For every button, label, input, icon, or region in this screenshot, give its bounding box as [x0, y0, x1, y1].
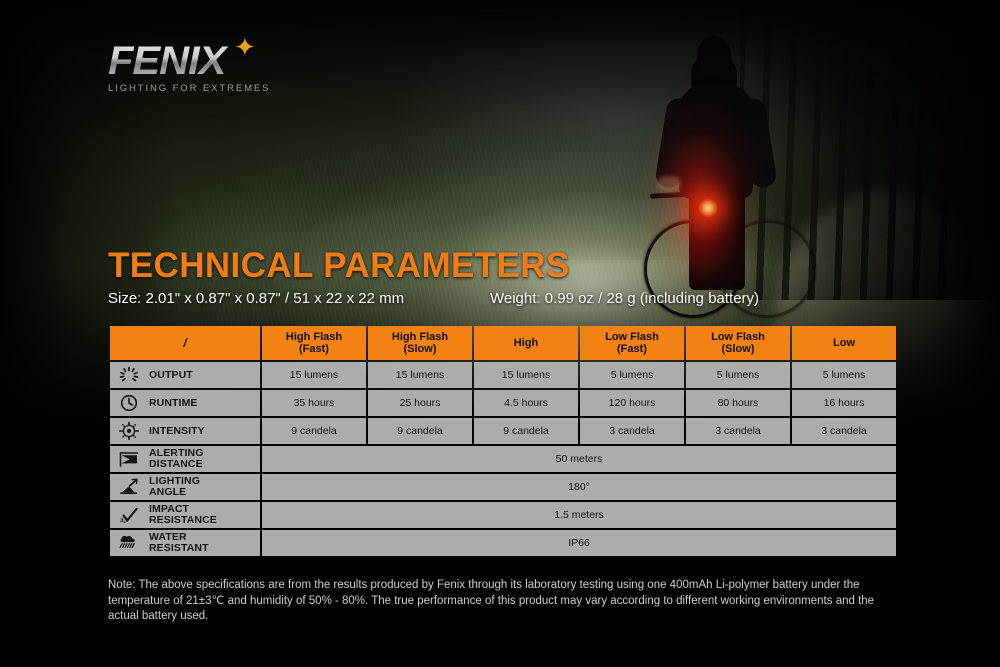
row-label-cell: ALERTINGDISTANCE	[110, 446, 260, 472]
row-label-line1: OUTPUT	[149, 370, 193, 381]
size-spec: Size: 2.01" x 0.87" x 0.87" / 51 x 22 x …	[108, 290, 404, 307]
row-label-text: IMPACTRESISTANCE	[149, 504, 217, 526]
burst-output-icon	[118, 365, 140, 385]
row-value-cell: 5 lumens	[686, 362, 790, 388]
row-value-cell: 9 candela	[262, 418, 366, 444]
product-spec-page: ✦ FENIX LIGHTING FOR EXTREMES TECHNICAL …	[0, 0, 1000, 667]
beam-distance-icon	[118, 449, 140, 469]
row-value-cell: 5 lumens	[792, 362, 896, 388]
table-row: OUTPUT15 lumens15 lumens15 lumens5 lumen…	[110, 362, 896, 388]
table-row: INTENSITY9 candela9 candela9 candela3 ca…	[110, 418, 896, 444]
table-body: OUTPUT15 lumens15 lumens15 lumens5 lumen…	[110, 362, 896, 556]
row-value-cell: 15 lumens	[474, 362, 578, 388]
row-value-cell: 9 candela	[368, 418, 472, 444]
page-content: ✦ FENIX LIGHTING FOR EXTREMES TECHNICAL …	[0, 0, 1000, 667]
column-header-line1: High Flash	[262, 331, 366, 343]
page-title: TECHNICAL PARAMETERS	[108, 246, 570, 286]
column-header-low-flash-fast: Low Flash (Fast)	[580, 326, 684, 360]
table-row: LIGHTINGANGLE180°	[110, 474, 896, 500]
row-label-wrap: IMPACTRESISTANCE	[118, 504, 260, 526]
weight-spec: Weight: 0.99 oz / 28 g (including batter…	[490, 290, 759, 307]
table-row: RUNTIME35 hours25 hours4.5 hours120 hour…	[110, 390, 896, 416]
row-value-cell: 80 hours	[686, 390, 790, 416]
row-value-cell: 9 candela	[474, 418, 578, 444]
row-value-cell: 3 candela	[580, 418, 684, 444]
row-label-line2: ANGLE	[149, 487, 200, 498]
row-label-wrap: OUTPUT	[118, 365, 260, 385]
row-label-wrap: WATERRESISTANT	[118, 532, 260, 554]
clock-runtime-icon	[118, 393, 140, 413]
fenix-logo: ✦ FENIX LIGHTING FOR EXTREMES	[108, 40, 288, 96]
column-header-high: High	[474, 326, 578, 360]
column-header-line2: (Slow)	[368, 343, 472, 355]
row-value-cell: 120 hours	[580, 390, 684, 416]
column-header-line1: High Flash	[368, 331, 472, 343]
table-row: IMPACTRESISTANCE1.5 meters	[110, 502, 896, 528]
row-label-cell: LIGHTINGANGLE	[110, 474, 260, 500]
row-label-text: LIGHTINGANGLE	[149, 476, 200, 498]
column-header-line1: High	[474, 337, 578, 349]
row-label-cell: WATERRESISTANT	[110, 530, 260, 556]
water-resistant-icon	[118, 533, 140, 553]
row-value-cell: 15 lumens	[262, 362, 366, 388]
row-value-cell: IP66	[262, 530, 896, 556]
column-header-high-flash-slow: High Flash (Slow)	[368, 326, 472, 360]
row-value-cell: 25 hours	[368, 390, 472, 416]
row-value-cell: 3 candela	[686, 418, 790, 444]
lighting-angle-icon	[118, 477, 140, 497]
row-value-cell: 15 lumens	[368, 362, 472, 388]
row-label-cell: OUTPUT	[110, 362, 260, 388]
row-label-cell: INTENSITY	[110, 418, 260, 444]
crosshair-intensity-icon	[118, 421, 140, 441]
row-value-cell: 3 candela	[792, 418, 896, 444]
row-label-wrap: ALERTINGDISTANCE	[118, 448, 260, 470]
column-header-line1: Low Flash	[580, 331, 684, 343]
row-label-wrap: LIGHTINGANGLE	[118, 476, 260, 498]
column-header-line2: (Fast)	[580, 343, 684, 355]
technical-parameters-table: / High Flash (Fast) High Flash (Slow) Hi…	[108, 324, 898, 558]
footnote: Note: The above specifications are from …	[108, 578, 890, 625]
column-header-label: /	[110, 326, 260, 360]
row-label-line1: RUNTIME	[149, 398, 198, 409]
row-label-text: OUTPUT	[149, 370, 193, 381]
row-label-cell: RUNTIME	[110, 390, 260, 416]
table-row: WATERRESISTANTIP66	[110, 530, 896, 556]
row-value-cell: 50 meters	[262, 446, 896, 472]
brand-name: FENIX	[108, 40, 295, 82]
row-label-wrap: INTENSITY	[118, 421, 260, 441]
row-label-line2: RESISTANT	[149, 543, 209, 554]
row-label-text: RUNTIME	[149, 398, 198, 409]
column-header-line1: Low Flash	[686, 331, 790, 343]
row-label-line1: INTENSITY	[149, 426, 205, 437]
brand-tagline: LIGHTING FOR EXTREMES	[108, 83, 288, 94]
row-label-text: WATERRESISTANT	[149, 532, 209, 554]
column-header-line1: Low	[792, 337, 896, 349]
row-label-text: ALERTINGDISTANCE	[149, 448, 203, 470]
impact-resistance-icon	[118, 505, 140, 525]
column-header-low: Low	[792, 326, 896, 360]
row-value-cell: 1.5 meters	[262, 502, 896, 528]
row-label-text: INTENSITY	[149, 426, 205, 437]
table-header-row: / High Flash (Fast) High Flash (Slow) Hi…	[110, 326, 896, 360]
row-label-wrap: RUNTIME	[118, 393, 260, 413]
column-header-low-flash-slow: Low Flash (Slow)	[686, 326, 790, 360]
row-label-cell: IMPACTRESISTANCE	[110, 502, 260, 528]
table-header: / High Flash (Fast) High Flash (Slow) Hi…	[110, 326, 896, 360]
column-header-line2: (Fast)	[262, 343, 366, 355]
column-header-high-flash-fast: High Flash (Fast)	[262, 326, 366, 360]
column-header-line2: (Slow)	[686, 343, 790, 355]
row-label-line2: DISTANCE	[149, 459, 203, 470]
table-row: ALERTINGDISTANCE50 meters	[110, 446, 896, 472]
row-value-cell: 35 hours	[262, 390, 366, 416]
row-value-cell: 4.5 hours	[474, 390, 578, 416]
column-header-label-text: /	[183, 336, 186, 350]
row-value-cell: 5 lumens	[580, 362, 684, 388]
row-value-cell: 180°	[262, 474, 896, 500]
row-value-cell: 16 hours	[792, 390, 896, 416]
row-label-line2: RESISTANCE	[149, 515, 217, 526]
